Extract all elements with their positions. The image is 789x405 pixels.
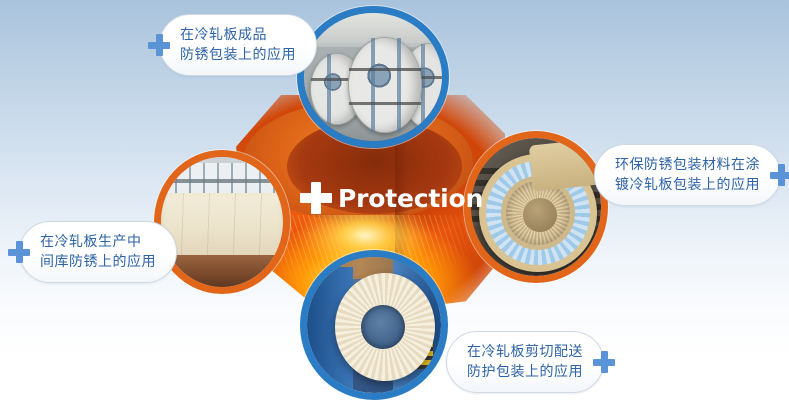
plus-icon xyxy=(593,351,615,373)
wrapped-coil-film-photo xyxy=(471,138,601,276)
tarp-stack-photo xyxy=(161,157,283,287)
callout-right-pill[interactable]: 环保防锈包装材料在涂 镀冷轧板包装上的应用 xyxy=(594,144,781,206)
coil-edge-protector xyxy=(529,138,601,191)
callout-right-line1: 环保防锈包装材料在涂 xyxy=(615,155,760,175)
callout-bottom-pill[interactable]: 在冷轧板剪切配送 防护包装上的应用 xyxy=(446,331,604,393)
callout-top-line2: 防锈包装上的应用 xyxy=(180,45,296,65)
callout-right[interactable]: 环保防锈包装材料在涂 镀冷轧板包装上的应用 xyxy=(594,144,789,206)
coil-hub xyxy=(523,198,557,232)
wrapped-coil xyxy=(335,273,435,381)
callout-top[interactable]: 在冷轧板成品 防锈包装上的应用 xyxy=(148,14,317,76)
plus-icon xyxy=(770,164,789,186)
callout-top-line1: 在冷轧板成品 xyxy=(180,25,296,45)
coil-on-machine-photo xyxy=(307,257,441,393)
center-label: Protection xyxy=(300,182,483,214)
photo-bubble-top[interactable] xyxy=(297,6,449,148)
coil xyxy=(348,37,422,133)
callout-right-line2: 镀冷轧板包装上的应用 xyxy=(615,175,760,195)
plus-icon xyxy=(300,182,332,214)
page-title: Protection xyxy=(338,186,483,211)
ceiling-beam xyxy=(161,179,283,183)
callout-bottom[interactable]: 在冷轧板剪切配送 防护包装上的应用 xyxy=(446,331,615,393)
callout-left-line2: 间库防锈上的应用 xyxy=(40,252,156,272)
callout-left-pill[interactable]: 在冷轧板生产中 间库防锈上的应用 xyxy=(19,221,177,283)
infographic-stage: Protection xyxy=(0,0,789,405)
callout-bottom-line2: 防护包装上的应用 xyxy=(467,362,583,382)
photo-bubble-right[interactable] xyxy=(464,131,608,283)
steel-coils-photo xyxy=(304,13,442,141)
callout-bottom-line1: 在冷轧板剪切配送 xyxy=(467,342,583,362)
ground xyxy=(161,255,283,287)
callout-left-line1: 在冷轧板生产中 xyxy=(40,232,156,252)
plus-icon xyxy=(8,241,30,263)
plus-icon xyxy=(148,34,170,56)
callout-left[interactable]: 在冷轧板生产中 间库防锈上的应用 xyxy=(8,221,177,283)
callout-top-pill[interactable]: 在冷轧板成品 防锈包装上的应用 xyxy=(159,14,317,76)
photo-bubble-bottom[interactable] xyxy=(300,250,448,400)
